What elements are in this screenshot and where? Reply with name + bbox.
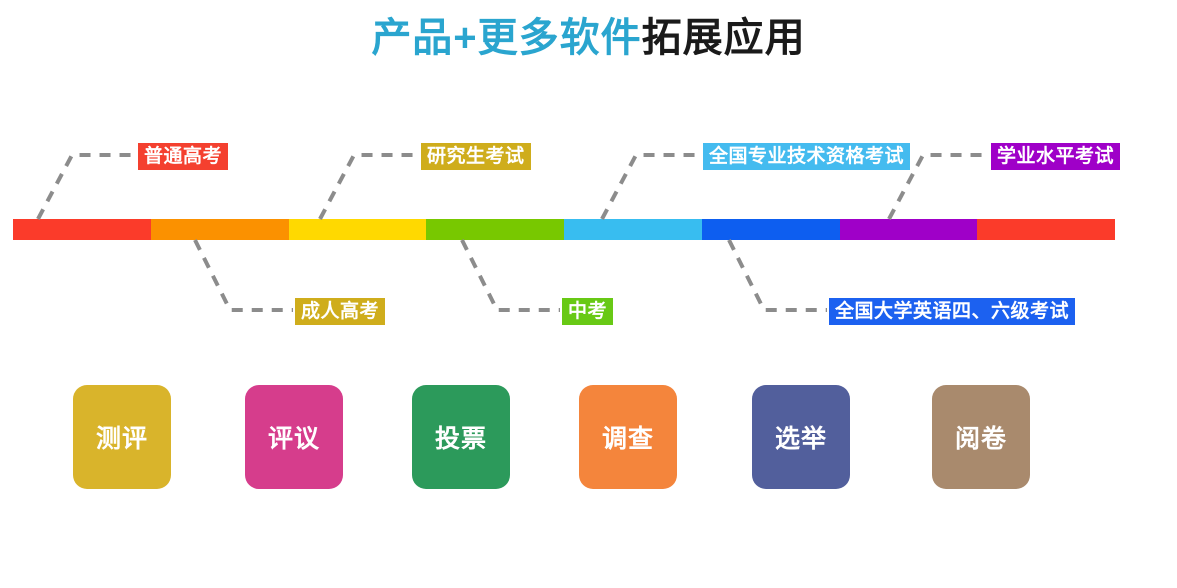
feature-card-label: 选举 (775, 419, 827, 455)
spectrum-segment-purple (840, 219, 978, 240)
feature-card[interactable]: 评议 (245, 385, 343, 489)
feature-card-label: 阅卷 (955, 419, 1007, 455)
page-title: 产品+更多软件拓展应用 (0, 12, 1177, 64)
feature-card[interactable]: 选举 (752, 385, 850, 489)
connector-yanjiusheng (320, 155, 419, 219)
feature-card[interactable]: 测评 (73, 385, 171, 489)
connector-lines (0, 0, 1177, 588)
exam-label-top-0: 普通高考 (138, 143, 228, 170)
feature-card-label: 测评 (96, 419, 148, 455)
exam-label-bottom-2: 全国大学英语四、六级考试 (829, 298, 1075, 325)
exam-label-top-3: 学业水平考试 (991, 143, 1120, 170)
connector-cet46 (729, 240, 827, 310)
spectrum-bar (13, 219, 1115, 240)
exam-label-bottom-0: 成人高考 (295, 298, 385, 325)
feature-card-label: 评议 (268, 419, 320, 455)
feature-card[interactable]: 投票 (412, 385, 510, 489)
connector-zhongkao (462, 240, 560, 310)
spectrum-segment-sky-blue (564, 219, 702, 240)
feature-card-row: 测评评议投票调查选举阅卷 (73, 385, 1113, 489)
spectrum-segment-blue (702, 219, 840, 240)
feature-card[interactable]: 调查 (579, 385, 677, 489)
feature-card-label: 调查 (602, 419, 654, 455)
page-title-accent: 产品+更多软件 (371, 16, 641, 60)
connector-zhuanye-zige (602, 155, 701, 219)
exam-label-bottom-1: 中考 (562, 298, 613, 325)
connector-putong-gaokao (38, 155, 136, 219)
exam-label-top-1: 研究生考试 (421, 143, 531, 170)
feature-card-label: 投票 (435, 419, 487, 455)
feature-card[interactable]: 阅卷 (932, 385, 1030, 489)
infographic-canvas: 产品+更多软件拓展应用 普通高考研究生考试全国专业技术资格考试学业水平考试 成人… (0, 0, 1177, 588)
exam-label-top-2: 全国专业技术资格考试 (703, 143, 910, 170)
spectrum-segment-green (426, 219, 564, 240)
spectrum-segment-yellow (289, 219, 427, 240)
page-title-plain: 拓展应用 (642, 16, 806, 60)
spectrum-segment-orange (151, 219, 289, 240)
connector-chengren-gaokao (195, 240, 293, 310)
spectrum-segment-red (13, 219, 151, 240)
spectrum-segment-red-end (977, 219, 1115, 240)
